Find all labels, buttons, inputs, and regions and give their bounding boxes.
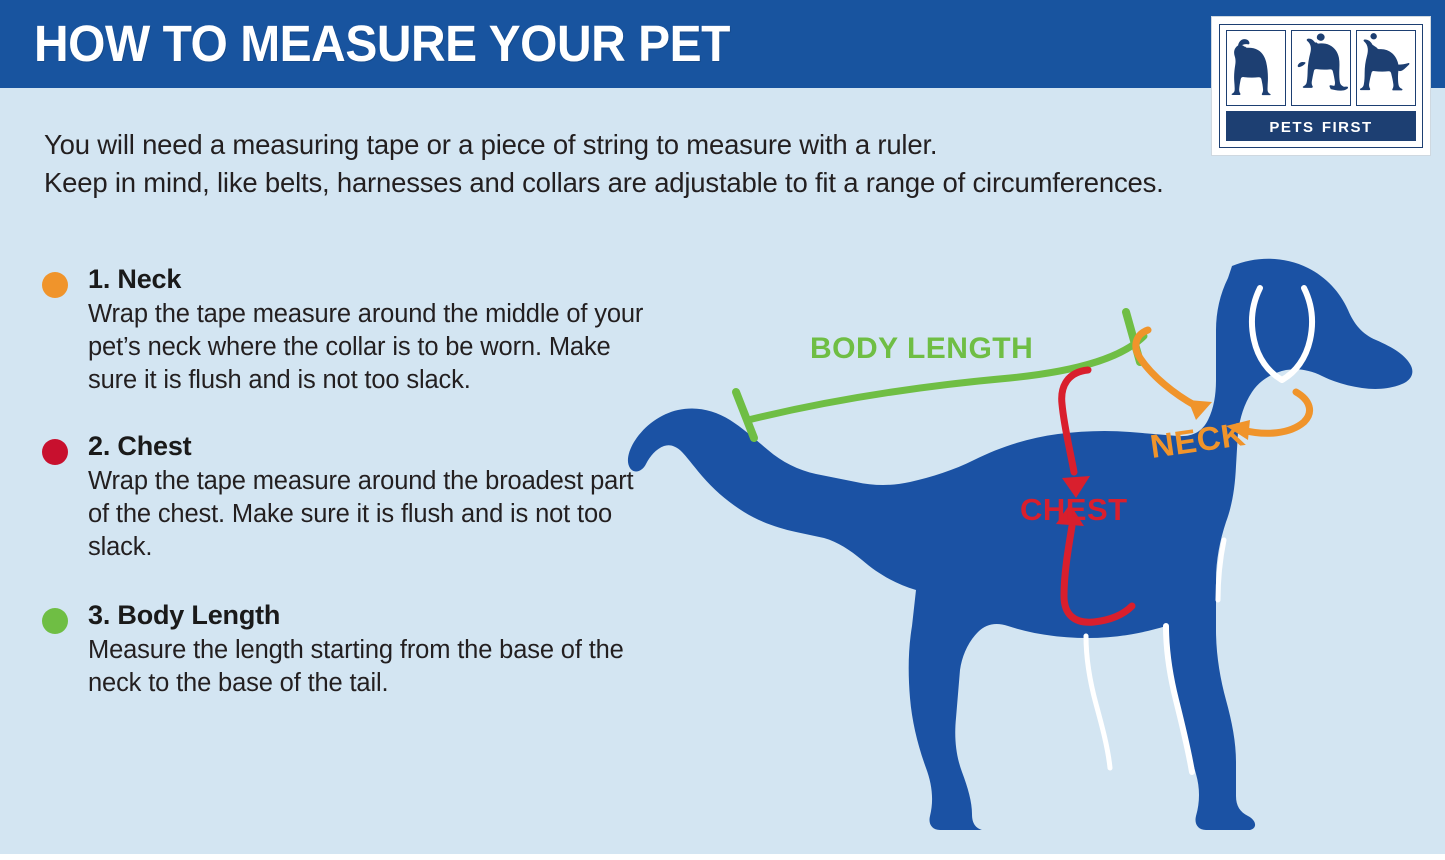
step-item-neck: 1. Neck Wrap the tape measure around the… (40, 262, 650, 397)
intro-line-2: Keep in mind, like belts, harnesses and … (44, 164, 1204, 202)
body-length-label: BODY LENGTH (810, 332, 1033, 365)
intro-line-1: You will need a measuring tape or a piec… (44, 126, 1204, 164)
logo-wordmark-text: Pets First (1269, 115, 1372, 136)
step-description-chest: Wrap the tape measure around the broades… (88, 465, 648, 564)
chest-label: CHEST (1020, 492, 1128, 527)
measurement-steps-list: 1. Neck Wrap the tape measure around the… (40, 262, 650, 728)
step-description-body-length: Measure the length starting from the bas… (88, 634, 648, 700)
brand-logo: Pets First (1211, 16, 1431, 156)
intro-text: You will need a measuring tape or a piec… (44, 126, 1204, 202)
step-bullet-body-length (42, 608, 68, 634)
step-item-body-length: 3. Body Length Measure the length starti… (40, 598, 650, 700)
step-title-neck: 1. Neck (88, 262, 650, 296)
step-item-chest: 2. Chest Wrap the tape measure around th… (40, 429, 650, 564)
dog-measurement-diagram: BODY LENGTH NECK CHEST (620, 230, 1440, 850)
logo-wordmark: Pets First (1226, 111, 1416, 141)
infographic-page: HOW TO MEASURE YOUR PET (0, 0, 1445, 860)
logo-panels (1226, 30, 1416, 106)
step-bullet-neck (42, 272, 68, 298)
dog-sitting-silhouette-icon (1226, 30, 1286, 106)
dog-shepherd-silhouette-icon (1356, 30, 1416, 106)
dog-begging-silhouette-icon (1291, 30, 1351, 106)
step-title-body-length: 3. Body Length (88, 598, 650, 632)
step-title-chest: 2. Chest (88, 429, 650, 463)
step-bullet-chest (42, 439, 68, 465)
logo-frame: Pets First (1219, 24, 1423, 148)
body-length-measure-line (736, 312, 1144, 438)
page-title: HOW TO MEASURE YOUR PET (34, 14, 730, 74)
bottom-strip (0, 854, 1445, 860)
step-description-neck: Wrap the tape measure around the middle … (88, 298, 648, 397)
